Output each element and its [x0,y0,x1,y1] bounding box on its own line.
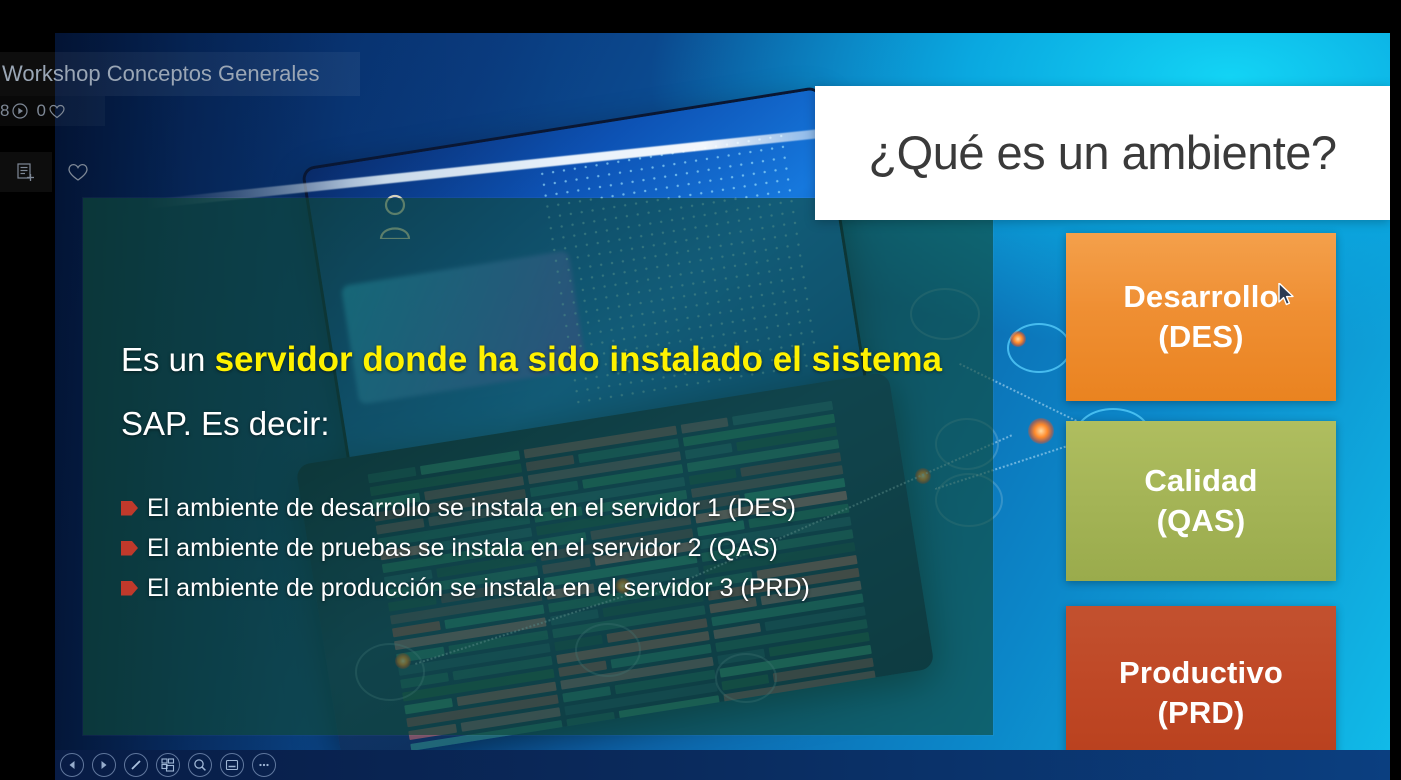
slide-title-card: ¿Qué es un ambiente? [815,86,1390,220]
slide-grid-button[interactable] [156,753,180,777]
pen-icon [129,758,143,772]
bullet-marker-icon [121,581,138,596]
grid-slides-icon [161,758,175,772]
heart-icon [49,104,65,119]
playlist-add-icon [16,162,36,182]
presentation-toolbar [57,750,297,780]
page-title: ¿Qué es un ambiente? [868,126,1336,179]
like-count: 0 [36,101,64,121]
magnifier-icon [193,758,207,772]
zoom-tool-button[interactable] [188,753,212,777]
ellipsis-icon [257,758,271,772]
env-box-desarrollo[interactable]: Desarrollo(DES) [1066,233,1336,401]
env-box-productivo-label: Productivo(PRD) [1119,653,1283,732]
play-circle-icon [12,103,28,119]
bullet-marker-icon [121,541,138,556]
triangle-left-icon [66,759,78,771]
add-to-playlist-button[interactable] [0,152,52,192]
screen: ¿Qué es un ambiente? Es un servidor dond… [0,0,1401,780]
view-count-value: 8 [0,101,9,121]
player-top-letterbox [0,0,1401,33]
slide-body-text: Es un servidor donde ha sido instalado e… [121,328,981,454]
bullet-marker-icon [121,501,138,516]
list-item-label: El ambiente de pruebas se instala en el … [147,528,778,568]
like-count-value: 0 [36,101,45,121]
pen-tool-button[interactable] [124,753,148,777]
triangle-right-icon [98,759,110,771]
display-mode-button[interactable] [220,753,244,777]
view-count: 8 [0,101,28,121]
list-item: El ambiente de producción se instala en … [121,568,1001,608]
player-right-letterbox [1390,0,1401,780]
more-options-button[interactable] [252,753,276,777]
body-lead-1: Es un [121,341,215,378]
video-title: Workshop Conceptos Generales [0,52,360,96]
list-item-label: El ambiente de desarrollo se instala en … [147,488,796,528]
next-slide-button[interactable] [92,753,116,777]
video-action-bar [0,152,105,192]
env-box-calidad[interactable]: Calidad(QAS) [1066,421,1336,581]
body-lead-2: SAP. Es decir: [121,405,330,442]
env-box-desarrollo-label: Desarrollo(DES) [1123,277,1278,356]
presentation-slide[interactable]: ¿Qué es un ambiente? Es un servidor dond… [55,33,1390,780]
list-item: El ambiente de pruebas se instala en el … [121,528,1001,568]
video-stats: 8 0 [0,96,105,126]
list-item-label: El ambiente de producción se instala en … [147,568,810,608]
screen-icon [225,758,239,772]
content-panel [83,198,993,735]
slide-bullet-list: El ambiente de desarrollo se instala en … [121,488,1001,608]
list-item: El ambiente de desarrollo se instala en … [121,488,1001,528]
favorite-button[interactable] [52,152,104,192]
heart-icon [68,163,88,182]
body-highlight: servidor donde ha sido instalado el sist… [215,340,942,379]
env-box-calidad-label: Calidad(QAS) [1144,461,1257,540]
previous-slide-button[interactable] [60,753,84,777]
